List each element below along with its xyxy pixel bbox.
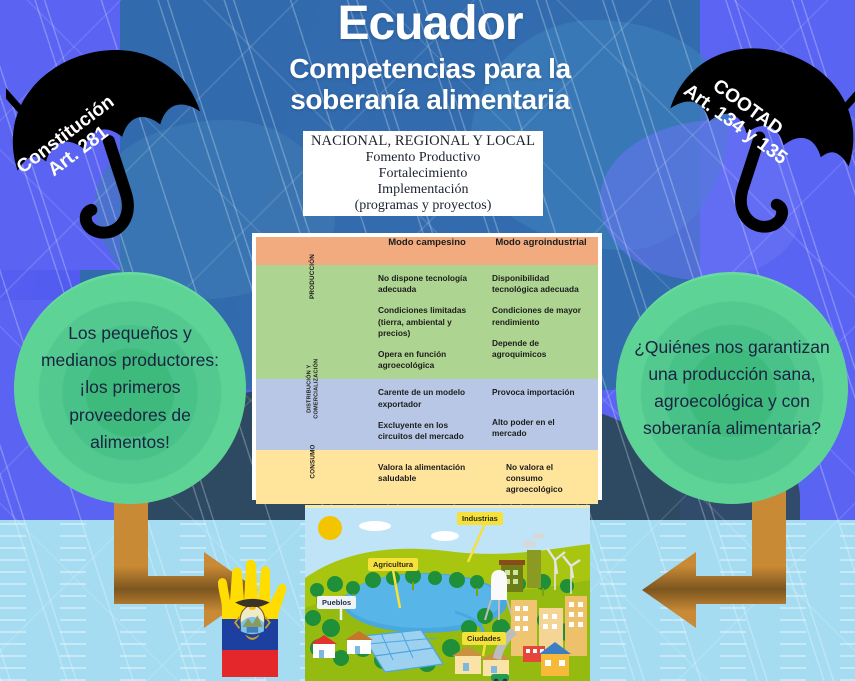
sun-icon xyxy=(318,516,342,540)
cell-distribucion-campesino: Carente de un modelo exportador Excluyen… xyxy=(370,379,484,450)
comparison-table: Modo campesino Modo agroindustrial PRODU… xyxy=(252,233,602,500)
row-label-distribucion-text: DISTRIBUCIÓN Y COMERCIALIZACIÓN xyxy=(306,351,319,425)
car-icon xyxy=(491,674,509,681)
callout-industrias: Industrias xyxy=(457,512,503,525)
table-header-agroindustrial: Modo agroindustrial xyxy=(484,237,598,265)
landscape-illustration: Industrias Agricultura Pueblos Ciudades xyxy=(305,505,590,681)
circle-right-text: ¿Quiénes nos garantizan una producción s… xyxy=(616,334,848,443)
umbrella-constitucion: Constitución Art. 281 xyxy=(6,44,221,259)
circle-left-text: Los pequeños y medianos productores: ¡lo… xyxy=(14,320,246,456)
cell-produccion-agroindustrial: Disponibilidad tecnológica adecuada Cond… xyxy=(484,265,598,379)
infobox-line-3: Fortalecimiento xyxy=(379,166,468,182)
arrow-right xyxy=(622,490,792,660)
table-header-row: Modo campesino Modo agroindustrial xyxy=(256,237,598,265)
row-label-consumo-text: CONSUMO xyxy=(309,444,316,478)
cell-consumo-agroindustrial: No valora el consumo agroecológico xyxy=(484,450,598,504)
arrow-down-left-icon xyxy=(622,490,792,660)
infobox-line-2: Fomento Productivo xyxy=(366,150,481,166)
row-label-consumo: CONSUMO xyxy=(256,450,370,504)
cell-produccion-campesino: No dispone tecnología adecuada Condicion… xyxy=(370,265,484,379)
callout-ciudades-label: Ciudades xyxy=(467,634,501,643)
landscape-scene-icon xyxy=(305,508,590,681)
callout-pueblos-label: Pueblos xyxy=(322,598,351,607)
callout-agricultura-label: Agricultura xyxy=(373,560,413,569)
subtitle-line-2: soberanía alimentaria xyxy=(290,84,570,115)
callout-ciudades: Ciudades xyxy=(462,632,506,645)
row-label-distribucion: DISTRIBUCIÓN Y COMERCIALIZACIÓN xyxy=(256,379,370,450)
infobox-line-5: (programas y proyectos) xyxy=(355,198,492,214)
callout-pueblos: Pueblos xyxy=(317,596,356,609)
callout-agricultura: Agricultura xyxy=(368,558,418,571)
infobox-line-1: NACIONAL, REGIONAL Y LOCAL xyxy=(311,133,535,150)
cell-distribucion-agroindustrial: Provoca importación Alto poder en el mer… xyxy=(484,379,598,450)
table-row: CONSUMO Valora la alimentación saludable… xyxy=(256,450,598,504)
table-header-campesino: Modo campesino xyxy=(370,237,484,265)
circle-productores: Los pequeños y medianos productores: ¡lo… xyxy=(14,272,246,504)
page-title: Ecuador xyxy=(215,0,645,47)
infobox-line-4: Implementación xyxy=(378,182,469,198)
cell-consumo-campesino: Valora la alimentación saludable xyxy=(370,450,484,504)
table-row: DISTRIBUCIÓN Y COMERCIALIZACIÓN Carente … xyxy=(256,379,598,450)
umbrella-cootad: COOTAD Art. 134 y 135 xyxy=(650,40,855,255)
page-subtitle: Competencias para la soberanía alimentar… xyxy=(215,53,645,116)
callout-industrias-label: Industrias xyxy=(462,514,498,523)
competencias-infobox: NACIONAL, REGIONAL Y LOCAL Fomento Produ… xyxy=(303,131,543,216)
row-label-produccion-text: PRODUCCIÓN xyxy=(310,254,317,299)
ecuador-flag-hand xyxy=(208,557,300,681)
page-header: Ecuador Competencias para la soberanía a… xyxy=(215,0,645,116)
subtitle-line-1: Competencias para la xyxy=(289,53,570,84)
ecuador-flag-hand-icon xyxy=(208,557,300,681)
infographic-canvas: Ecuador Competencias para la soberanía a… xyxy=(0,0,855,681)
circle-pregunta: ¿Quiénes nos garantizan una producción s… xyxy=(616,272,848,504)
table-element: Modo campesino Modo agroindustrial PRODU… xyxy=(256,237,598,504)
